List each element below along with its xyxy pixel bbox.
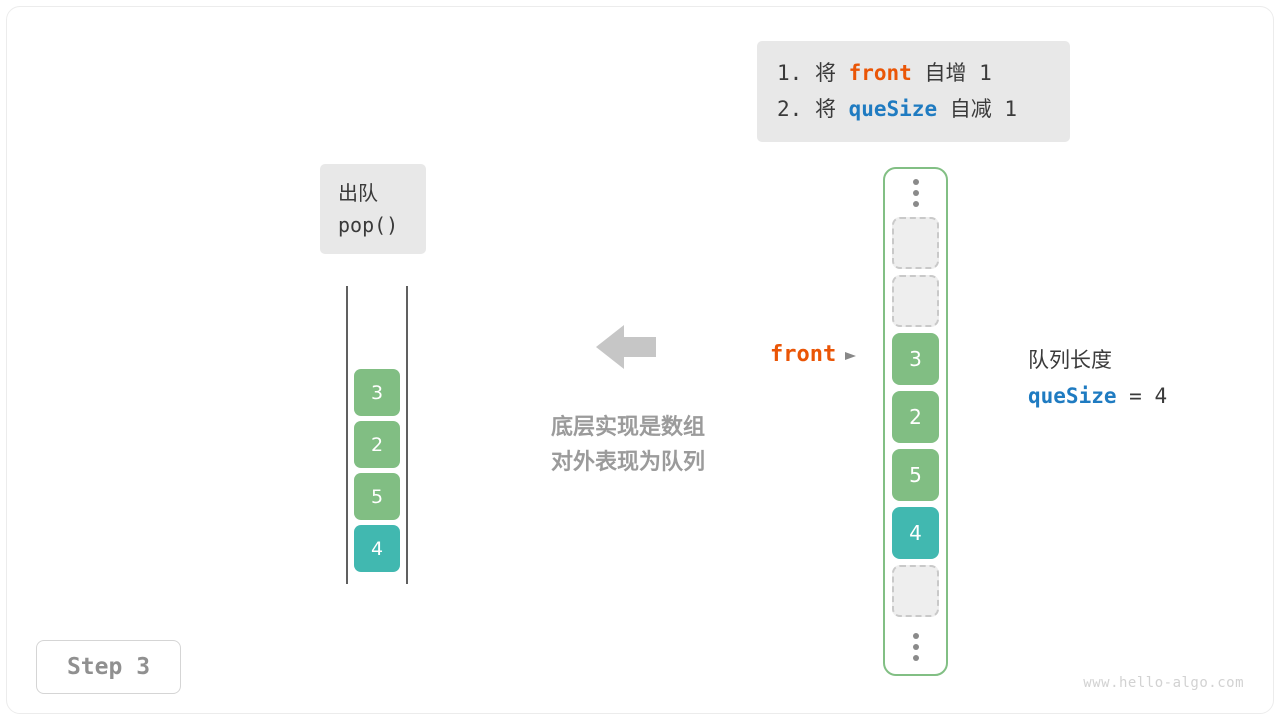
instruction-1-verb: 将 [815,61,849,85]
array-container: 3 2 5 4 [883,167,948,676]
diagram-canvas: 1. 将 front 自增 1 2. 将 queSize 自减 1 出队 pop… [0,0,1280,720]
instruction-box: 1. 将 front 自增 1 2. 将 queSize 自减 1 [757,41,1070,142]
instruction-1-code: front [849,61,912,85]
queue-cell: 4 [354,525,400,572]
caption-line-2: 对外表现为队列 [528,445,728,480]
instruction-line-2: 2. 将 queSize 自减 1 [777,91,1050,127]
instruction-1-index: 1. [777,61,815,85]
instruction-1-value: 1 [979,61,992,85]
step-badge: Step 3 [36,640,181,694]
watermark: www.hello-algo.com [1083,675,1244,691]
vertical-ellipsis-icon-top [913,169,919,217]
queue-size-expression: queSize = 4 [1028,378,1167,414]
pop-operation-label: 出队 pop() [320,164,426,254]
queue-cell: 2 [354,421,400,468]
pop-label-method: pop() [338,209,426,241]
pop-label-title: 出队 [338,177,426,209]
queue-wall-left [346,286,348,584]
caption-text: 底层实现是数组 对外表现为队列 [528,410,728,480]
array-cell: 3 [892,333,939,385]
instruction-2-code: queSize [849,97,938,121]
front-pointer-text: front [770,342,836,367]
queue-size-info: 队列长度 queSize = 4 [1028,342,1167,414]
instruction-line-1: 1. 将 front 自增 1 [777,55,1050,91]
instruction-2-action: 自减 [937,97,1004,121]
array-cell-empty [892,565,939,617]
left-arrow-icon [596,323,656,371]
array-cell-empty [892,217,939,269]
array-cell: 2 [892,391,939,443]
instruction-2-verb: 将 [815,97,849,121]
caption-line-1: 底层实现是数组 [528,410,728,445]
queue-cell: 5 [354,473,400,520]
instruction-1-action: 自增 [912,61,979,85]
array-cell-empty [892,275,939,327]
arrow-right-icon [844,348,858,362]
queue-cell-list: 3 2 5 4 [354,369,400,572]
instruction-2-index: 2. [777,97,815,121]
queue-wall-right [406,286,408,584]
queue-size-title: 队列长度 [1028,342,1167,378]
queue-container: 3 2 5 4 [346,286,408,584]
instruction-2-value: 1 [1004,97,1017,121]
queue-size-equals: = [1117,384,1155,408]
queue-size-variable: queSize [1028,384,1117,408]
array-cell: 4 [892,507,939,559]
array-cell: 5 [892,449,939,501]
queue-cell: 3 [354,369,400,416]
queue-size-value: 4 [1154,384,1167,408]
front-pointer-label: front [770,342,858,367]
vertical-ellipsis-icon-bottom [913,623,919,671]
